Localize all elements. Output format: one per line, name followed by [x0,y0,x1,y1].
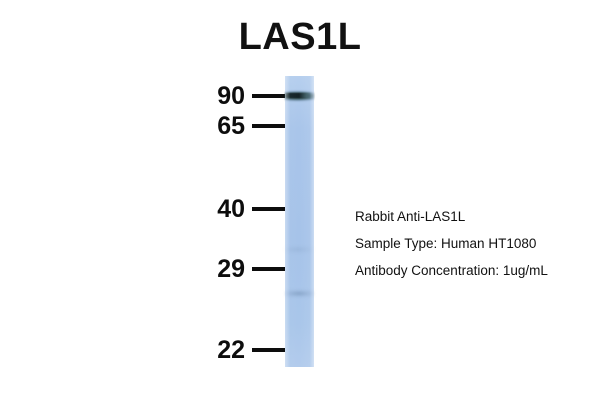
faint-band [285,289,314,298]
mw-marker-label: 22 [217,338,245,363]
mw-marker-dash-icon [252,348,286,352]
mw-marker-label: 40 [217,197,245,222]
mw-marker-label: 65 [217,114,245,139]
primary-band-core [285,93,314,98]
mw-marker-29: 29 [196,254,288,284]
western-blot-figure: LAS1L 90 65 40 29 22 Rabbit Anti-LAS1 [0,0,600,400]
mw-marker-dash-icon [252,207,286,211]
annotation-concentration: Antibody Concentration: 1ug/mL [355,257,595,284]
mw-marker-65: 65 [196,111,288,141]
page-title: LAS1L [0,16,600,59]
mw-marker-label: 90 [217,84,245,109]
annotation-sample-type: Sample Type: Human HT1080 [355,230,595,257]
mw-marker-dash-icon [252,267,286,271]
annotation-antibody: Rabbit Anti-LAS1L [355,203,595,230]
mw-marker-22: 22 [196,335,288,365]
mw-marker-40: 40 [196,194,288,224]
background-smudge [285,246,314,253]
primary-band [285,90,314,102]
mw-marker-label: 29 [217,257,245,282]
sample-lane [285,76,314,367]
mw-marker-dash-icon [252,124,286,128]
mw-marker-dash-icon [252,94,286,98]
annotation-block: Rabbit Anti-LAS1L Sample Type: Human HT1… [355,203,595,284]
mw-marker-90: 90 [196,81,288,111]
